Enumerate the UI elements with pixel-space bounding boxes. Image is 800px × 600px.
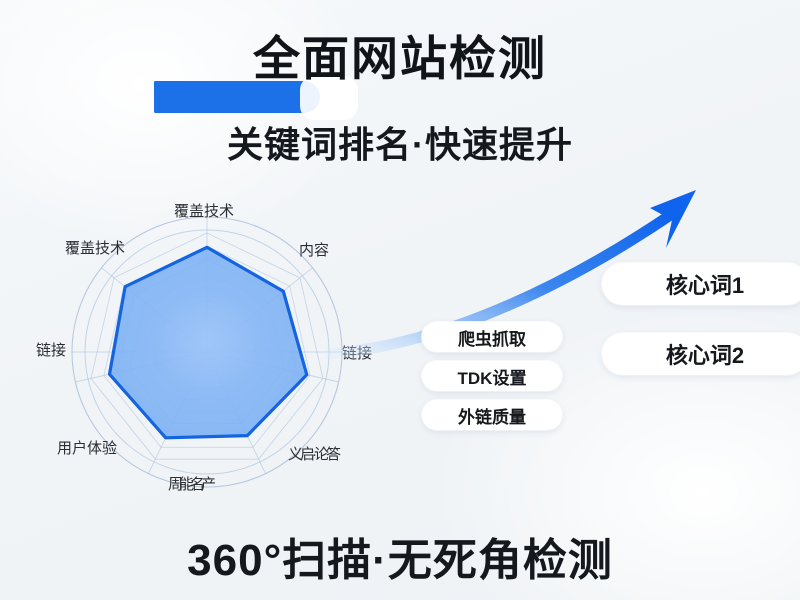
tag-pill-1[interactable]: 爬虫抓取 [422, 322, 562, 352]
page-title: 全面网站检测 [253, 34, 547, 84]
keyword-pill-1[interactable]: 核心词1 [602, 263, 800, 305]
poster-canvas: 全面网站检测 关键词排名·快速提升 覆盖技术 内容 链接 义启·论答 周能名产 … [0, 0, 800, 600]
headline-block: 全面网站检测 [0, 34, 800, 84]
title-highlight-bar [154, 81, 320, 113]
page-footer-text: 360°扫描·无死角检测 [0, 524, 800, 588]
radar-label-4: 周能名产 [168, 473, 212, 494]
keyword-pill-2[interactable]: 核心词2 [602, 333, 800, 375]
page-subtitle: 关键词排名·快速提升 [0, 116, 800, 168]
tag-pill-2[interactable]: TDK设置 [422, 361, 562, 391]
radar-label-5: 用户体验 [57, 437, 117, 458]
radar-label-6: 覆盖技术 [65, 237, 125, 258]
tag-pill-3[interactable]: 外链质量 [422, 400, 562, 430]
radar-label-3: 义启·论答 [288, 443, 338, 464]
radar-label-left: 链接 [36, 339, 66, 360]
radar-label-0: 覆盖技术 [174, 200, 234, 221]
